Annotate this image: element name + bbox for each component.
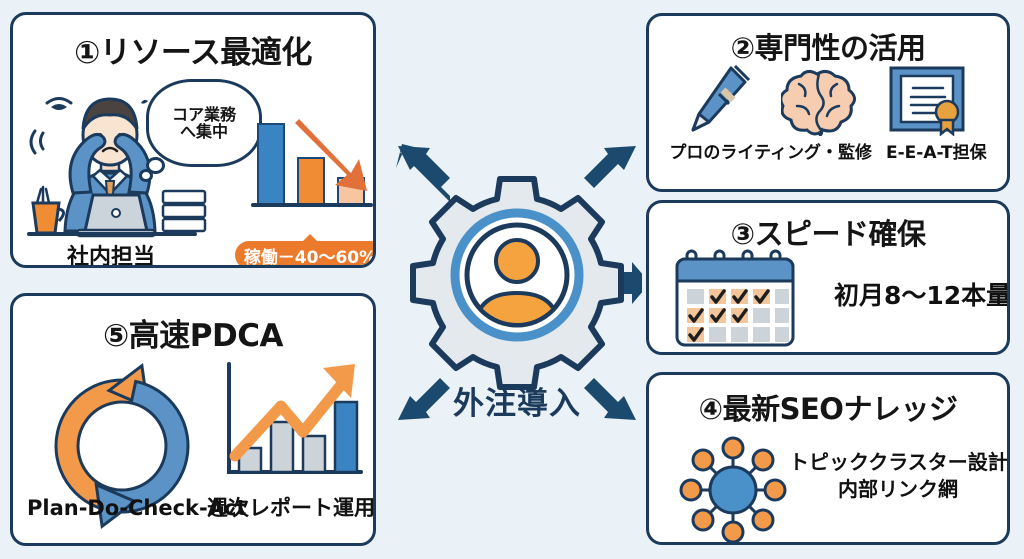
panel-fast-pdca[interactable]: ⑤高速PDCA Plan-Do-Check-Act 週次レポート運: [10, 293, 376, 546]
panel5-title: ⑤高速PDCA: [13, 310, 373, 355]
growth-bar-chart-icon: [219, 360, 367, 488]
chart-baseline: [251, 203, 373, 207]
bubble-dot-small: [139, 169, 153, 182]
hub-spoke-network-icon: [673, 435, 793, 545]
panel-resource-optimization[interactable]: ①リソース最適化: [10, 12, 376, 268]
pdca-cycle-icon: Plan-Do-Check-Act: [27, 358, 217, 533]
bubble-line-1: コア業務: [172, 106, 236, 123]
panel1-badge: 稼働－40〜60%: [235, 241, 376, 268]
panel5-caption: 週次レポート運用: [203, 492, 376, 522]
panel4-line-2: 内部リンク網: [789, 476, 1007, 503]
pdca-cycle-label: Plan-Do-Check-Act: [27, 496, 227, 520]
panel3-title: ③スピード確保: [649, 211, 1007, 253]
down-arrow-icon: [295, 115, 373, 199]
pen-icon: [685, 64, 751, 136]
panel-seo-knowledge[interactable]: ④最新SEOナレッジ トピッククラスター設計 内部リンク網: [646, 372, 1010, 545]
panel4-line-1: トピッククラスター設計: [789, 449, 1007, 476]
panel-speed[interactable]: ③スピード確保: [646, 200, 1010, 355]
panel3-text: 初月8〜12本量産: [834, 276, 1009, 312]
brain-icon: [781, 66, 859, 136]
desk-line: [27, 232, 197, 236]
panel-expertise[interactable]: ②専門性の活用: [646, 13, 1010, 192]
bubble-line-2: へ集中: [180, 123, 228, 140]
center-label: 外注導入: [392, 378, 642, 423]
panel1-title: ①リソース最適化: [13, 27, 373, 72]
thought-bubble-icon: コア業務 へ集中: [146, 79, 262, 167]
panel2-label-eeat: E-E-A-T担保: [886, 138, 987, 163]
panel4-title: ④最新SEOナレッジ: [649, 386, 1007, 428]
infographic-canvas: ①リソース最適化: [0, 0, 1024, 559]
calendar-icon: [671, 249, 807, 353]
certificate-icon: [887, 64, 967, 136]
panel1-caption: 社内担当: [31, 239, 191, 268]
panel2-label-writing: プロのライティング・監修: [669, 138, 872, 163]
arrow-up-right: [584, 146, 636, 188]
panel2-title: ②専門性の活用: [649, 25, 1007, 67]
arrow-up-left: [396, 144, 450, 202]
panel1-badge-label: 稼働－40〜60%: [244, 243, 376, 268]
